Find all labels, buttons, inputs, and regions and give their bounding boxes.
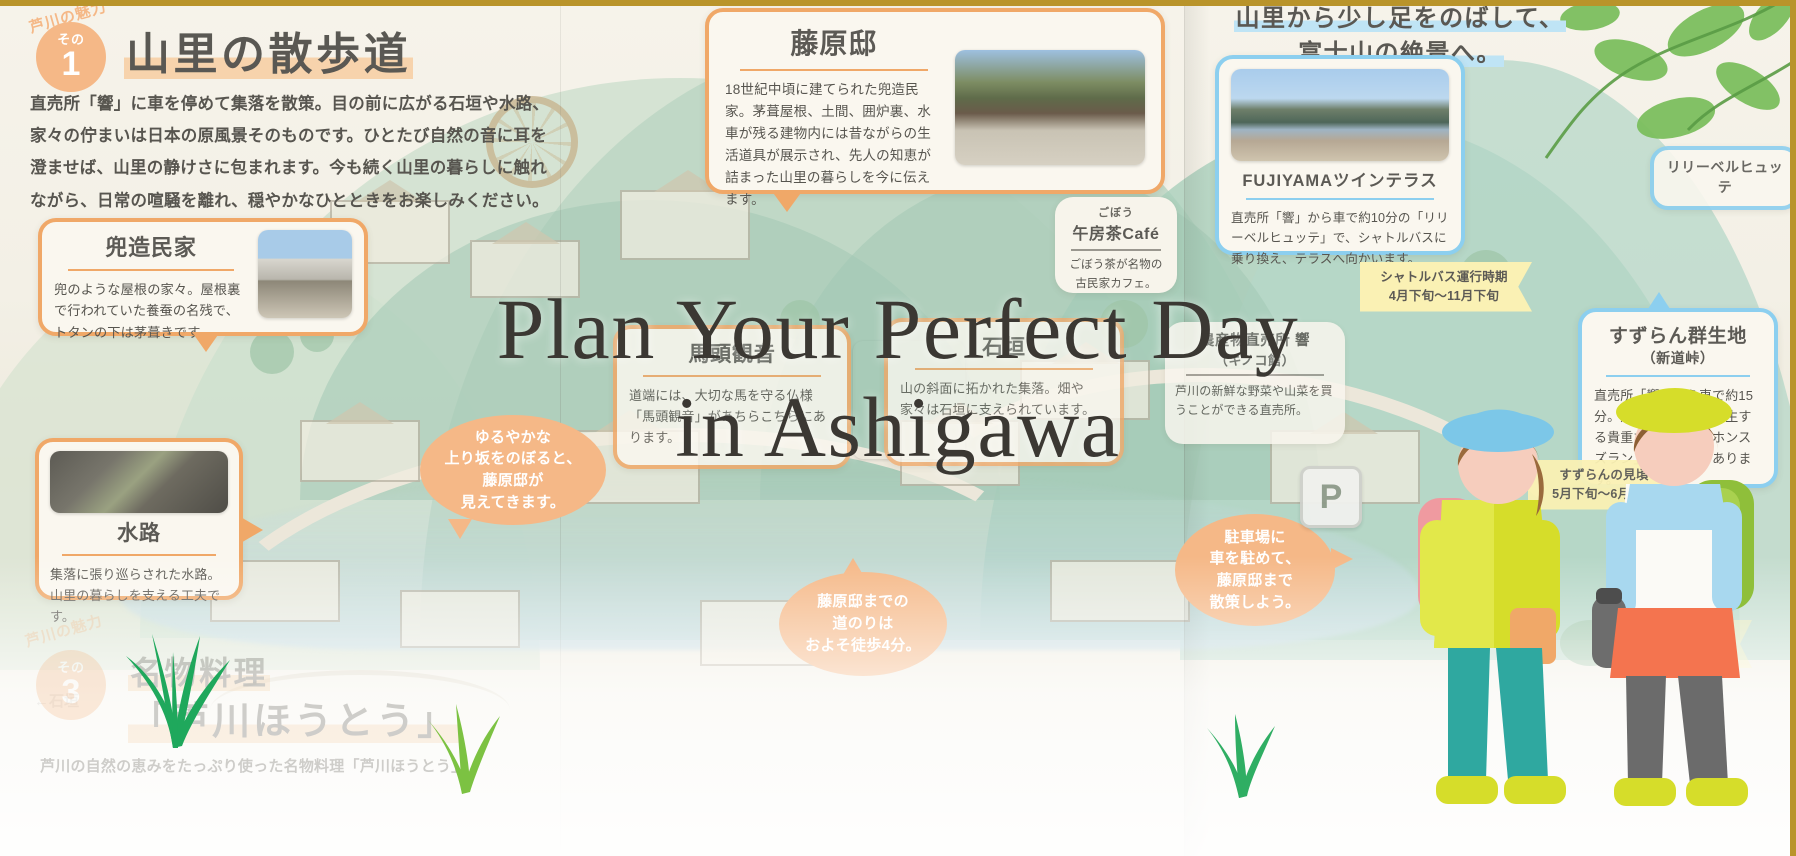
- village-roof: [492, 222, 560, 244]
- card-body: 直売所「響」から車で約10分の「リリーベルヒュッテ」で、シャトルバスに乗り換え、…: [1231, 208, 1449, 269]
- bubble-text: 駐車場に 車を駐めて、 藤原邸まで 散策しよう。: [1209, 527, 1300, 614]
- faded-section-lead: 芦川の自然の恵みをたっぷり使った名物料理「芦川ほうとう」: [40, 752, 680, 781]
- badge-number: 1: [62, 47, 81, 81]
- parking-sign-letter: P: [1320, 478, 1343, 517]
- section-lead-paragraph: 直売所「響」に車を停めて集落を散策。目の前に広がる石垣や水路、家々の佇まいは日本…: [30, 88, 550, 217]
- card-divider: [68, 269, 235, 271]
- card-title: リリーベルヒュッテ: [1664, 157, 1786, 197]
- card-fujiyama-twin-terrace[interactable]: FUJIYAMAツインテラス 直売所「響」から車で約10分の「リリーベルヒュッテ…: [1215, 55, 1465, 255]
- grass-tuft: [1185, 700, 1295, 800]
- card-thumbnail-fuji: [1231, 69, 1449, 161]
- card-divider: [740, 69, 927, 71]
- card-ruby: ごぼう: [1064, 204, 1168, 220]
- card-fujiwara-tei[interactable]: 藤原邸 18世紀中頃に建てられた兜造民家。茅葺屋根、土間、囲炉裏、水車が残る建物…: [705, 8, 1165, 194]
- village-building: [1050, 560, 1190, 622]
- brochure-page: 芦川の魅力 その 1 山里の散歩道 直売所「響」に車を停めて集落を散策。目の前に…: [0, 0, 1796, 856]
- section-title-text: 山里の散歩道: [124, 30, 413, 79]
- card-title: 午房茶Café: [1064, 220, 1168, 244]
- card-title: FUJIYAMAツインテラス: [1231, 167, 1449, 191]
- overlay-title-line1: Plan Your Perfect Day: [0, 280, 1796, 378]
- overlay-title: Plan Your Perfect Day in Ashigawa: [0, 280, 1796, 476]
- bubble-tail: [1331, 548, 1353, 570]
- bubble-walk-time: 藤原邸までの 道のりは およそ徒歩4分。: [779, 572, 947, 676]
- card-divider: [62, 554, 215, 556]
- card-gobou-cha-cafe[interactable]: ごぼう 午房茶Café ごぼう茶が名物の古民家カフェ。: [1055, 197, 1177, 293]
- card-tail: [239, 516, 263, 544]
- card-title: 水路: [50, 517, 228, 547]
- card-title: 兜造民家: [54, 230, 248, 262]
- faded-section-number-badge: その 3: [36, 650, 106, 720]
- village-building: [400, 590, 520, 648]
- grass-tuft: [400, 686, 530, 796]
- top-gold-border: [0, 0, 1796, 6]
- right-gold-border: [1790, 0, 1796, 856]
- card-lilybell-hutte[interactable]: リリーベルヒュッテ: [1650, 146, 1796, 210]
- card-thumbnail-minka: [955, 50, 1145, 165]
- card-title: 藤原邸: [725, 22, 943, 62]
- card-tail: [771, 190, 803, 212]
- card-body: 18世紀中頃に建てられた兜造民家。茅葺屋根、土間、囲炉裏、水車が残る建物内には昔…: [725, 79, 943, 211]
- bubble-tail: [448, 519, 472, 539]
- card-divider: [1071, 249, 1160, 251]
- section-title: 山里の散歩道: [124, 18, 413, 82]
- bubble-tail: [841, 558, 865, 578]
- bubble-parking: 駐車場に 車を駐めて、 藤原邸まで 散策しよう。: [1175, 514, 1335, 626]
- bubble-text: 藤原邸までの 道のりは およそ徒歩4分。: [805, 591, 921, 656]
- right-heading-line1: 山里から少し足をのばして、: [1234, 5, 1567, 32]
- section-number-badge: その 1: [36, 22, 106, 92]
- overlay-title-line2: in Ashigawa: [0, 378, 1796, 476]
- card-divider: [1246, 198, 1433, 200]
- grass-tuft: [108, 620, 238, 750]
- faded-badge-number: 3: [62, 675, 81, 709]
